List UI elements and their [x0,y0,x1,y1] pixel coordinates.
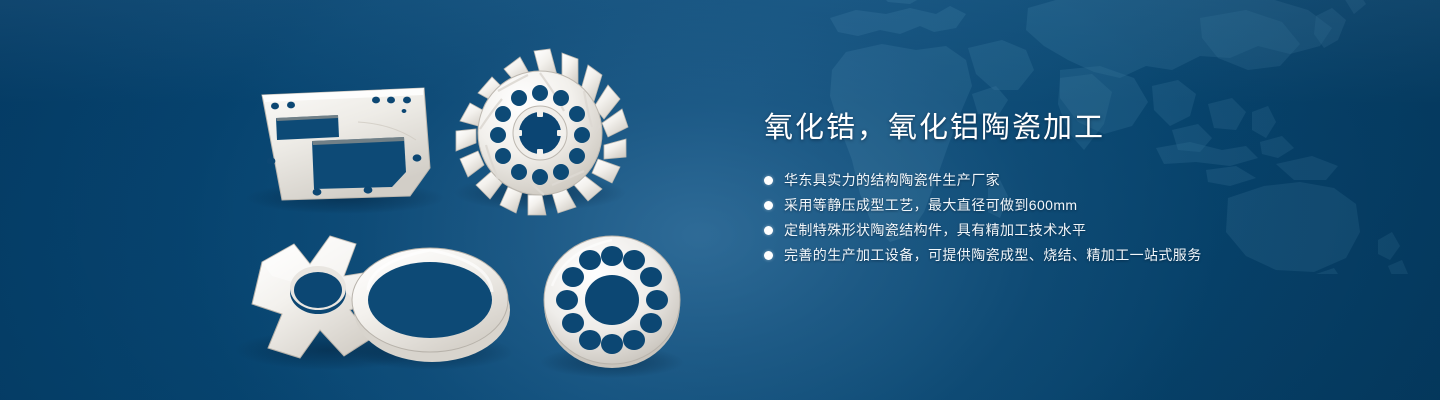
list-item-label: 定制特殊形状陶瓷结构件，具有精加工技术水平 [784,220,1086,241]
list-item: 完善的生产加工设备，可提供陶瓷成型、烧结、精加工一站式服务 [764,245,1404,266]
bullet-dot-icon [764,226,773,235]
ceramic-plate-part [245,88,445,214]
ceramic-hole-disc-part [540,236,684,378]
bullet-dot-icon [764,201,773,210]
list-item-label: 采用等静压成型工艺，最大直径可做到600mm [784,195,1077,216]
feature-list: 华东具实力的结构陶瓷件生产厂家 采用等静压成型工艺，最大直径可做到600mm 定… [764,170,1404,266]
page-title: 氧化锆，氧化铝陶瓷加工 [764,108,1404,148]
list-item: 定制特殊形状陶瓷结构件，具有精加工技术水平 [764,220,1404,241]
bullet-dot-icon [764,251,773,260]
promo-banner: 氧化锆，氧化铝陶瓷加工 华东具实力的结构陶瓷件生产厂家 采用等静压成型工艺，最大… [0,0,1440,400]
ceramic-ring-part [350,248,514,370]
ceramic-impeller-part [454,49,628,215]
product-photo-cluster [0,0,740,400]
list-item-label: 华东具实力的结构陶瓷件生产厂家 [784,170,1000,191]
banner-text-block: 氧化锆，氧化铝陶瓷加工 华东具实力的结构陶瓷件生产厂家 采用等静压成型工艺，最大… [764,108,1404,270]
list-item: 采用等静压成型工艺，最大直径可做到600mm [764,195,1404,216]
list-item-label: 完善的生产加工设备，可提供陶瓷成型、烧结、精加工一站式服务 [784,245,1202,266]
bullet-dot-icon [764,176,773,185]
list-item: 华东具实力的结构陶瓷件生产厂家 [764,170,1404,191]
